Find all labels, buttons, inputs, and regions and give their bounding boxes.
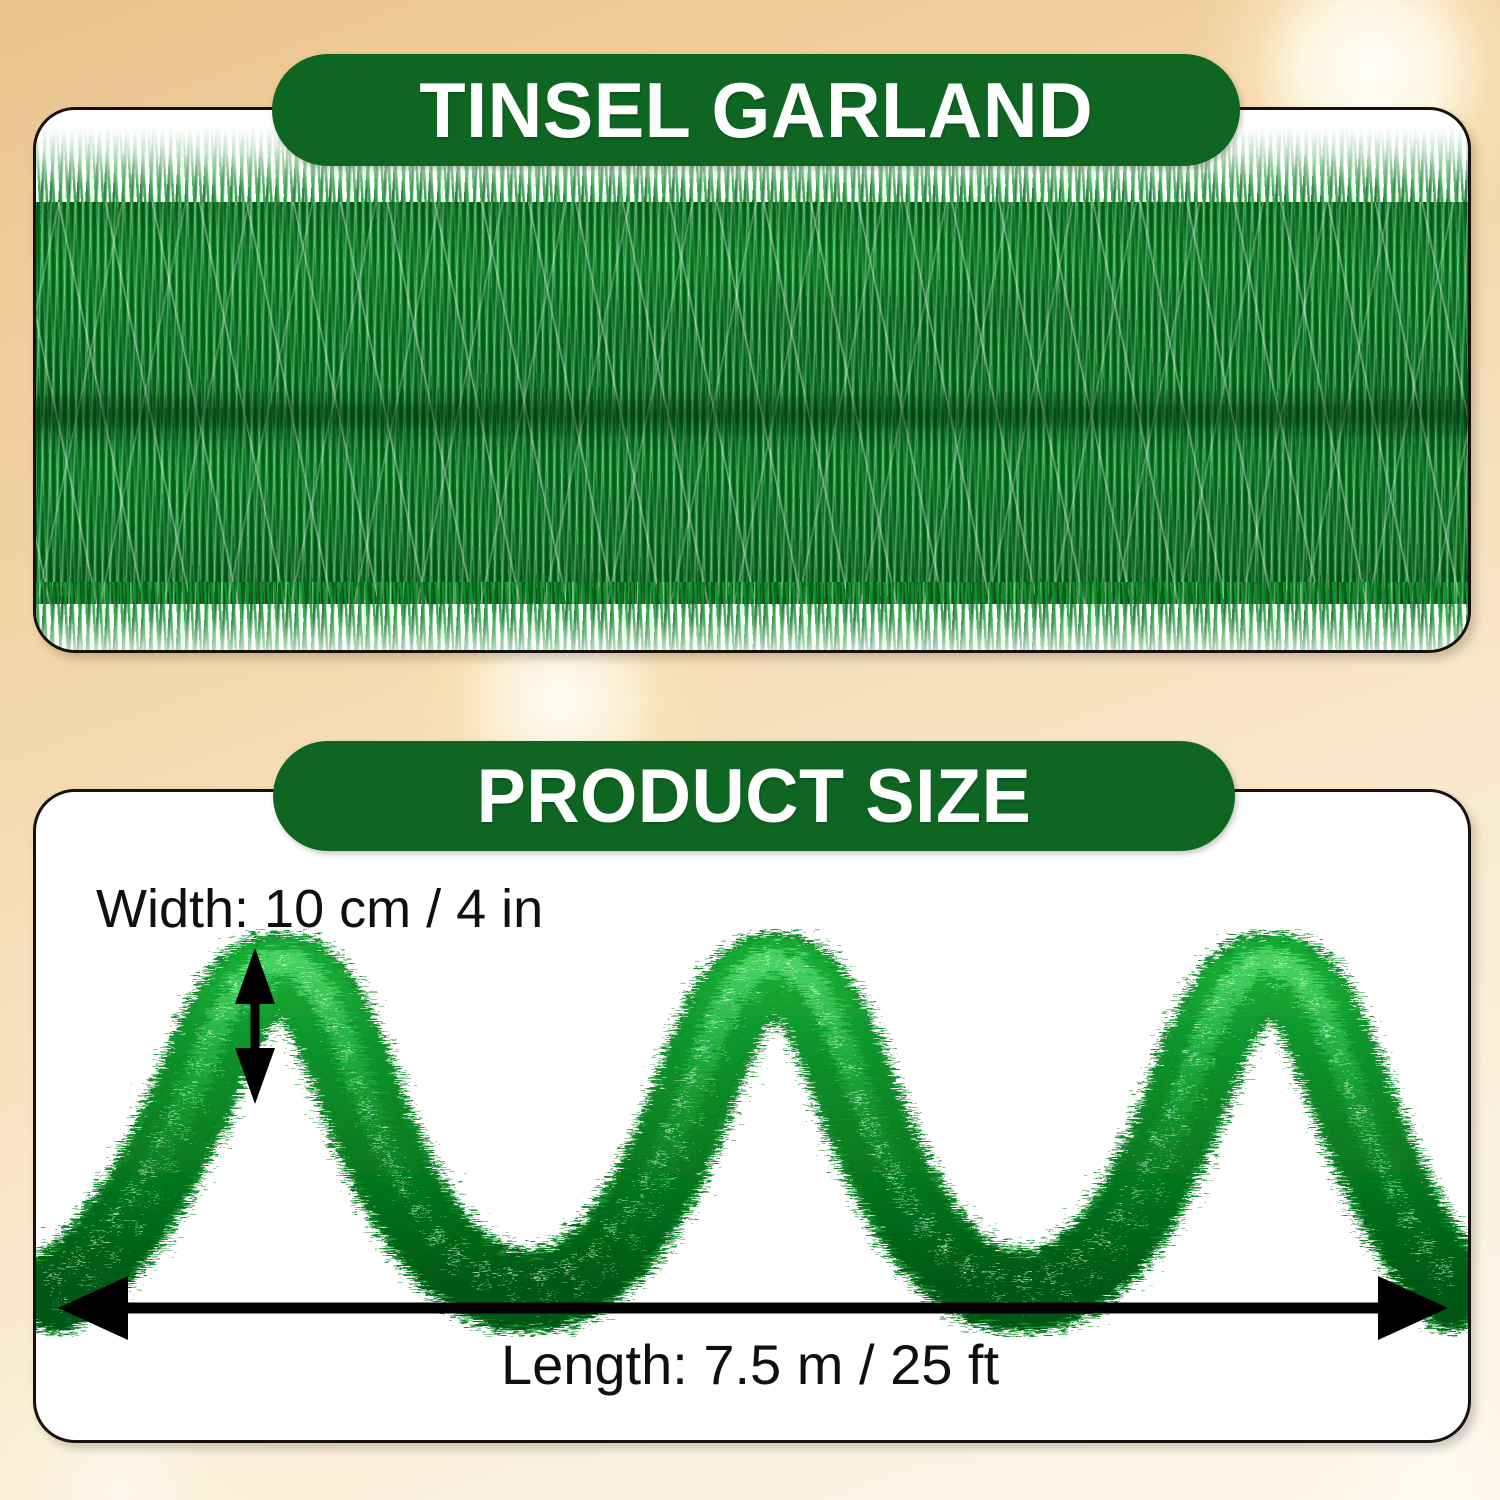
length-dimension-arrow bbox=[58, 1276, 1448, 1340]
tinsel-fringe-bottom bbox=[33, 582, 1471, 653]
banner-tinsel-garland: TINSEL GARLAND bbox=[272, 54, 1240, 166]
tinsel-strip-image bbox=[33, 202, 1471, 604]
length-dimension-label: Length: 7.5 m / 25 ft bbox=[0, 1332, 1500, 1397]
infographic-page: TINSEL GARLAND bbox=[0, 0, 1500, 1500]
banner-product-size: PRODUCT SIZE bbox=[273, 741, 1235, 851]
tinsel-garland-card bbox=[33, 107, 1471, 653]
banner-product-size-label: PRODUCT SIZE bbox=[477, 753, 1032, 840]
banner-tinsel-garland-label: TINSEL GARLAND bbox=[419, 65, 1093, 156]
width-dimension-label: Width: 10 cm / 4 in bbox=[96, 878, 543, 940]
tinsel-center-shadow bbox=[33, 387, 1471, 443]
